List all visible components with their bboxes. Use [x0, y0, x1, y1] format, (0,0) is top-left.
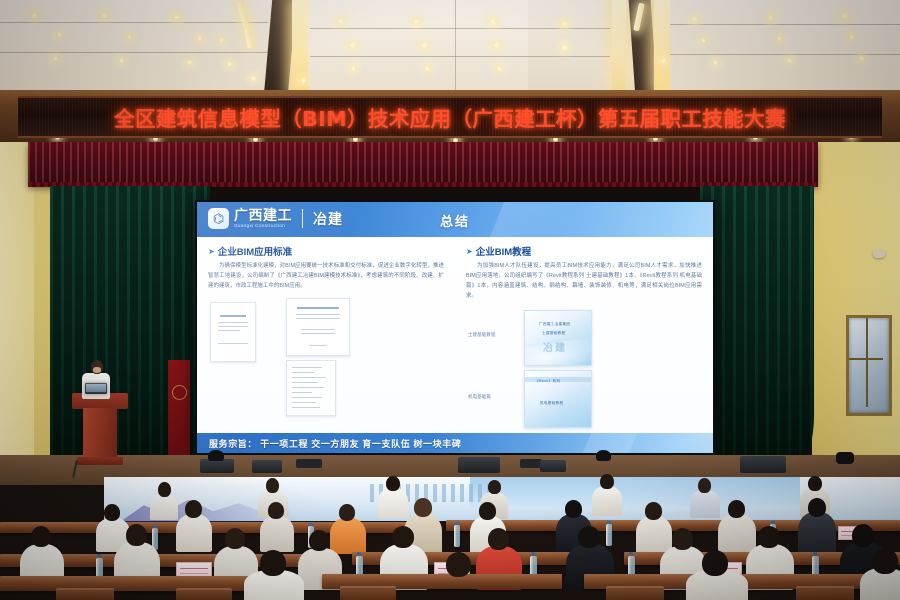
doc-thumbnail: [210, 302, 256, 362]
camera-icon: [208, 450, 224, 461]
slide-header: ⌬ 广西建工 Guangxi Construction 冶建 总结: [197, 202, 713, 237]
slide-body: ➤ 企业BIM应用标准 为确保模型标准化建模，对BIM应用要统一技术标准和交付标…: [197, 237, 713, 433]
laptop-screen: [86, 384, 106, 392]
bottle-cap: [607, 521, 611, 524]
left-heading-row: ➤ 企业BIM应用标准: [208, 244, 444, 258]
attendee-head: [31, 526, 51, 547]
book-cover-thumbnail: 广西建工冶建集团 土建基础教程 冶建: [524, 310, 592, 366]
photo-scene: 全区建筑信息模型（BIM）技术应用（广西建工杯）第五届职工技能大赛 ⌬ 广西建工…: [0, 0, 900, 600]
attendee-head: [185, 500, 202, 518]
bottle-cap: [813, 552, 817, 555]
camera-icon: [836, 452, 854, 464]
slide-right-column: ➤ 企业BIM教程 为加强BIM人才队伍建设，提高员工BIM技术应用能力，满足公…: [455, 237, 713, 433]
attendee-head: [565, 500, 582, 518]
chair: [176, 588, 232, 600]
wall-sensor-icon: [873, 250, 885, 258]
slide-title: 总结: [197, 211, 713, 230]
bottle-cap: [97, 554, 101, 557]
book1-cover-title: 广西建工冶建集团: [539, 322, 570, 327]
attendee-head: [268, 502, 284, 519]
attendee: [378, 488, 408, 518]
far-left-wall: [0, 142, 34, 472]
attendee-head: [386, 476, 400, 491]
book1-cover-big: 冶建: [543, 339, 567, 354]
left-thumbnails: [208, 298, 444, 416]
chair: [340, 586, 396, 600]
bottle-cap: [771, 521, 775, 524]
stage-valance: [28, 142, 818, 186]
right-heading-row: ➤ 企业BIM教程: [466, 244, 702, 258]
right-body-text: 为加强BIM人才队伍建设，提高员工BIM技术应用能力，满足公司BIM人才需求，加…: [466, 261, 702, 301]
arrow-bullet-icon: ➤: [466, 247, 473, 256]
attendee-head: [479, 502, 496, 520]
right-thumbnails: 广西建工冶建集团 土建基础教程 冶建 《Revit》系列 机电基础教程 土建基础…: [466, 308, 702, 426]
attendee-head: [728, 500, 745, 518]
attendee: [690, 490, 720, 518]
window: [846, 315, 892, 416]
presentation-slide: ⌬ 广西建工 Guangxi Construction 冶建 总结 ➤ 企业BI…: [197, 202, 713, 453]
arrow-bullet-icon: ➤: [208, 247, 215, 256]
attendee: [150, 494, 178, 520]
bottle-cap: [629, 552, 633, 555]
attendee-head: [600, 474, 614, 489]
attendee-head: [808, 476, 822, 491]
doc-thumbnail: [286, 298, 350, 356]
book1-caption: 土建基础教程: [468, 332, 496, 338]
attendee-head: [698, 478, 711, 493]
book2-caption: 机电基础篇: [468, 394, 491, 400]
chair: [56, 588, 114, 600]
led-banner: 全区建筑信息模型（BIM）技术应用（广西建工杯）第五届职工技能大赛: [18, 96, 882, 138]
attendee-head: [645, 502, 662, 520]
chair: [796, 586, 854, 600]
attendee: [260, 516, 294, 552]
left-heading: 企业BIM应用标准: [218, 244, 292, 258]
attendee: [636, 516, 672, 554]
right-wall: [812, 142, 900, 472]
doc-thumbnail: [286, 360, 336, 416]
attendee: [798, 512, 836, 554]
bottle-cap: [531, 552, 535, 555]
camera-icon: [596, 450, 611, 461]
speaker-face: [93, 367, 101, 373]
attendee-head: [392, 526, 414, 548]
attendee-head: [808, 498, 826, 517]
stage-equipment: [520, 459, 542, 468]
attendee-head: [488, 480, 501, 494]
ceiling: [0, 0, 900, 96]
left-body-text: 为确保模型标准化建模，对BIM应用要统一技术标准和交付标准，促进企业数字化转型，…: [208, 261, 444, 291]
attendee: [330, 518, 366, 554]
book2-cover-sub: 机电基础教程: [540, 401, 563, 406]
banner-text: 全区建筑信息模型（BIM）技术应用（广西建工杯）第五届职工技能大赛: [114, 102, 786, 132]
book2-cover-title: 《Revit》系列: [535, 379, 560, 384]
attendee-head: [266, 478, 279, 493]
attendee-head: [104, 504, 120, 521]
attendee-head: [578, 526, 600, 548]
attendee-head: [414, 498, 432, 517]
podium: [72, 393, 128, 467]
stage-curtain-right: [700, 186, 814, 472]
water-bottle: [606, 524, 612, 546]
bottle-cap: [309, 523, 313, 526]
attendee-head: [702, 550, 728, 576]
slide-footer-text: 服务宗旨： 干一项工程 交一方朋友 育一支队伍 树一块丰碑: [209, 437, 461, 450]
attendee-head: [488, 528, 509, 550]
attendee-head: [158, 482, 171, 497]
attendee-head: [758, 526, 780, 548]
bottle-cap: [357, 552, 361, 555]
attendee-head: [339, 504, 355, 521]
slide-left-column: ➤ 企业BIM应用标准 为确保模型标准化建模，对BIM应用要统一技术标准和交付标…: [197, 237, 455, 433]
attendee-head: [872, 548, 898, 574]
attendee-head: [260, 550, 286, 576]
attendee-head: [672, 528, 693, 550]
attendee: [592, 486, 622, 516]
water-bottle: [454, 525, 460, 547]
chair: [606, 586, 664, 600]
right-heading: 企业BIM教程: [476, 244, 531, 258]
attendee-head: [126, 524, 147, 546]
bottle-cap: [153, 525, 157, 528]
attendee-head: [225, 528, 245, 549]
attendee: [718, 514, 756, 554]
red-flag: [168, 360, 190, 458]
flag-emblem-icon: [172, 385, 187, 400]
stage-equipment: [296, 459, 322, 468]
book1-cover-sub: 土建基础教程: [542, 331, 565, 336]
bottle-cap: [455, 522, 459, 525]
audience-area: [0, 470, 900, 600]
book-cover-thumbnail: 《Revit》系列 机电基础教程: [524, 370, 592, 428]
slide-footer: 服务宗旨： 干一项工程 交一方朋友 育一支队伍 树一块丰碑: [197, 433, 713, 453]
attendee-head: [446, 552, 471, 577]
attendee: [176, 514, 212, 552]
attendee-head: [852, 524, 874, 547]
attendee-head: [309, 530, 329, 551]
